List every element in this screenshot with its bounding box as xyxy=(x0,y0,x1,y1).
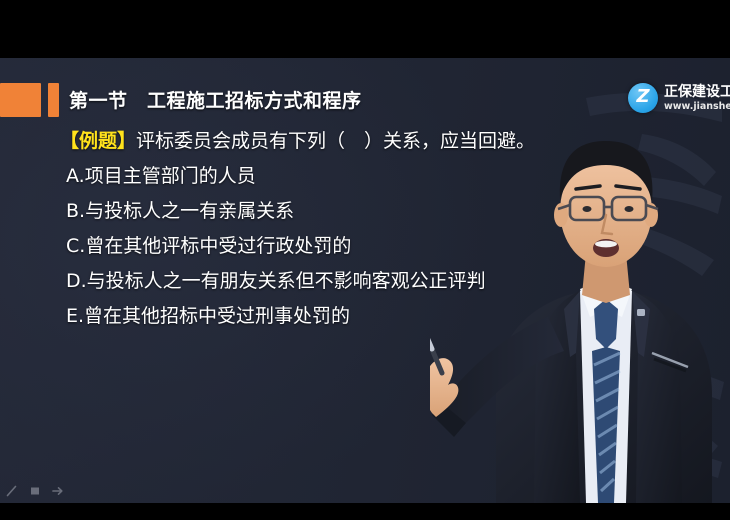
option-e: E.曾在其他招标中受过刑事处罚的 xyxy=(60,307,720,326)
brand-mark-icon: Z xyxy=(628,83,658,113)
option-b-key: B. xyxy=(66,200,85,222)
question-line: 【例题】评标委员会成员有下列（ ）关系，应当回避。 xyxy=(60,132,720,151)
brand-logo: Z 正保建设工程 www.jianshe9 xyxy=(628,83,730,113)
option-e-key: E. xyxy=(66,305,84,327)
option-d-key: D. xyxy=(66,270,87,292)
option-a: A.项目主管部门的人员 xyxy=(60,167,720,186)
annotation-toolbar[interactable] xyxy=(6,485,64,497)
option-a-key: A. xyxy=(66,165,85,187)
video-player-frame: 第一节 工程施工招标方式和程序 Z 正保建设工程 www.jianshe9 【例… xyxy=(0,0,730,520)
option-d-text: 与投标人之一有朋友关系但不影响客观公正评判 xyxy=(87,270,486,292)
option-c: C.曾在其他评标中受过行政处罚的 xyxy=(60,237,720,256)
letterbox-bottom xyxy=(0,503,730,520)
example-tag: 【例题】 xyxy=(60,130,136,152)
section-header: 第一节 工程施工招标方式和程序 Z 正保建设工程 www.jianshe9 xyxy=(0,83,730,119)
question-text: 评标委员会成员有下列（ ）关系，应当回避。 xyxy=(136,130,535,152)
option-b: B.与投标人之一有亲属关系 xyxy=(60,202,720,221)
brand-text: 正保建设工程 www.jianshe9 xyxy=(664,85,730,112)
slide-content: 【例题】评标委员会成员有下列（ ）关系，应当回避。 A.项目主管部门的人员 B.… xyxy=(60,132,720,342)
page-title: 第一节 工程施工招标方式和程序 xyxy=(69,86,362,113)
brand-mark-letter: Z xyxy=(628,82,658,112)
option-c-text: 曾在其他评标中受过行政处罚的 xyxy=(85,235,351,257)
option-a-text: 项目主管部门的人员 xyxy=(85,165,256,187)
stop-square-icon[interactable] xyxy=(29,485,41,497)
accent-block-thin xyxy=(48,83,59,117)
slide-stage: 第一节 工程施工招标方式和程序 Z 正保建设工程 www.jianshe9 【例… xyxy=(0,58,730,503)
pen-icon[interactable] xyxy=(6,485,18,497)
option-d: D.与投标人之一有朋友关系但不影响客观公正评判 xyxy=(60,272,720,291)
brand-name: 正保建设工程 xyxy=(664,85,730,99)
brand-url: www.jianshe9 xyxy=(664,102,730,112)
option-c-key: C. xyxy=(66,235,85,257)
accent-block-wide xyxy=(0,83,41,117)
option-b-text: 与投标人之一有亲属关系 xyxy=(85,200,294,222)
arrow-right-icon[interactable] xyxy=(52,485,64,497)
letterbox-top xyxy=(0,0,730,58)
option-e-text: 曾在其他招标中受过刑事处罚的 xyxy=(84,305,350,327)
